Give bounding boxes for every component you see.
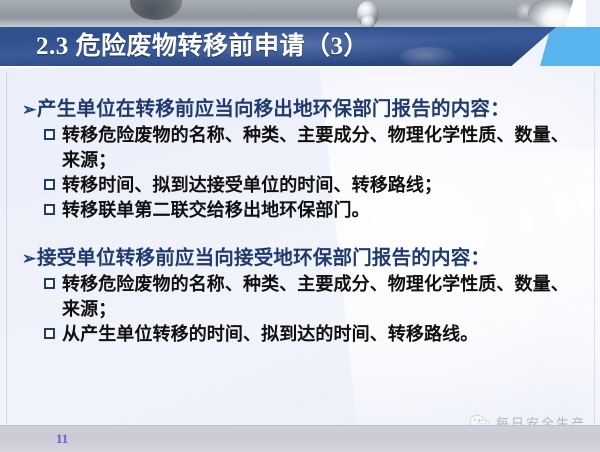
title-underline bbox=[0, 66, 556, 68]
slide-title-bar: 2.3 危险废物转移前申请（3） bbox=[0, 27, 600, 66]
presentation-slide: 2.3 危险废物转移前申请（3） ➢ 产生单位在转移前应当向移出地环保部门报告的… bbox=[0, 0, 600, 452]
list-item: 转移时间、拟到达接受单位的时间、转移路线； bbox=[0, 173, 600, 198]
list-item: 从产生单位转移的时间、拟到达的时间、转移路线。 bbox=[0, 322, 600, 347]
square-bullet-icon bbox=[44, 129, 61, 140]
slide-content: ➢ 产生单位在转移前应当向移出地环保部门报告的内容： 转移危险废物的名称、种类、… bbox=[0, 96, 600, 406]
section-heading-label: 产生单位在转移前应当向移出地环保部门报告的内容： bbox=[37, 96, 600, 123]
page-number: 11 bbox=[56, 431, 68, 447]
list-item: 转移危险废物的名称、种类、主要成分、物理化学性质、数量、来源； bbox=[0, 272, 600, 322]
list-item-label: 从产生单位转移的时间、拟到达的时间、转移路线。 bbox=[62, 322, 600, 347]
section-heading-label: 接受单位转移前应当向接受地环保部门报告的内容： bbox=[37, 245, 600, 272]
arrow-right-icon: ➢ bbox=[22, 96, 37, 123]
list-item-label: 转移危险废物的名称、种类、主要成分、物理化学性质、数量、来源； bbox=[62, 123, 600, 173]
droplet-icon bbox=[516, 2, 536, 22]
droplet-icon bbox=[400, 47, 456, 67]
square-bullet-icon bbox=[44, 179, 61, 190]
square-bullet-icon bbox=[44, 204, 61, 215]
square-bullet-icon bbox=[44, 328, 61, 339]
band-edge-slant bbox=[565, 0, 586, 28]
list-item-label: 转移联单第二联交给移出地环保部门。 bbox=[62, 198, 600, 223]
section-heading: ➢ 接受单位转移前应当向接受地环保部门报告的内容： bbox=[0, 245, 600, 272]
top-decorative-band bbox=[0, 0, 586, 28]
section-heading: ➢ 产生单位在转移前应当向移出地环保部门报告的内容： bbox=[0, 96, 600, 123]
section-spacer bbox=[0, 223, 600, 245]
droplet-icon bbox=[357, 1, 379, 27]
list-item: 转移危险废物的名称、种类、主要成分、物理化学性质、数量、来源； bbox=[0, 123, 600, 173]
arrow-right-icon: ➢ bbox=[22, 245, 37, 272]
list-item-label: 转移危险废物的名称、种类、主要成分、物理化学性质、数量、来源； bbox=[62, 272, 600, 322]
list-item: 转移联单第二联交给移出地环保部门。 bbox=[0, 198, 600, 223]
page-title: 2.3 危险废物转移前申请（3） bbox=[36, 27, 369, 66]
slide-footer-bar bbox=[0, 425, 600, 452]
list-item-label: 转移时间、拟到达接受单位的时间、转移路线； bbox=[62, 173, 600, 198]
square-bullet-icon bbox=[44, 278, 61, 289]
droplet-icon bbox=[130, 0, 182, 20]
